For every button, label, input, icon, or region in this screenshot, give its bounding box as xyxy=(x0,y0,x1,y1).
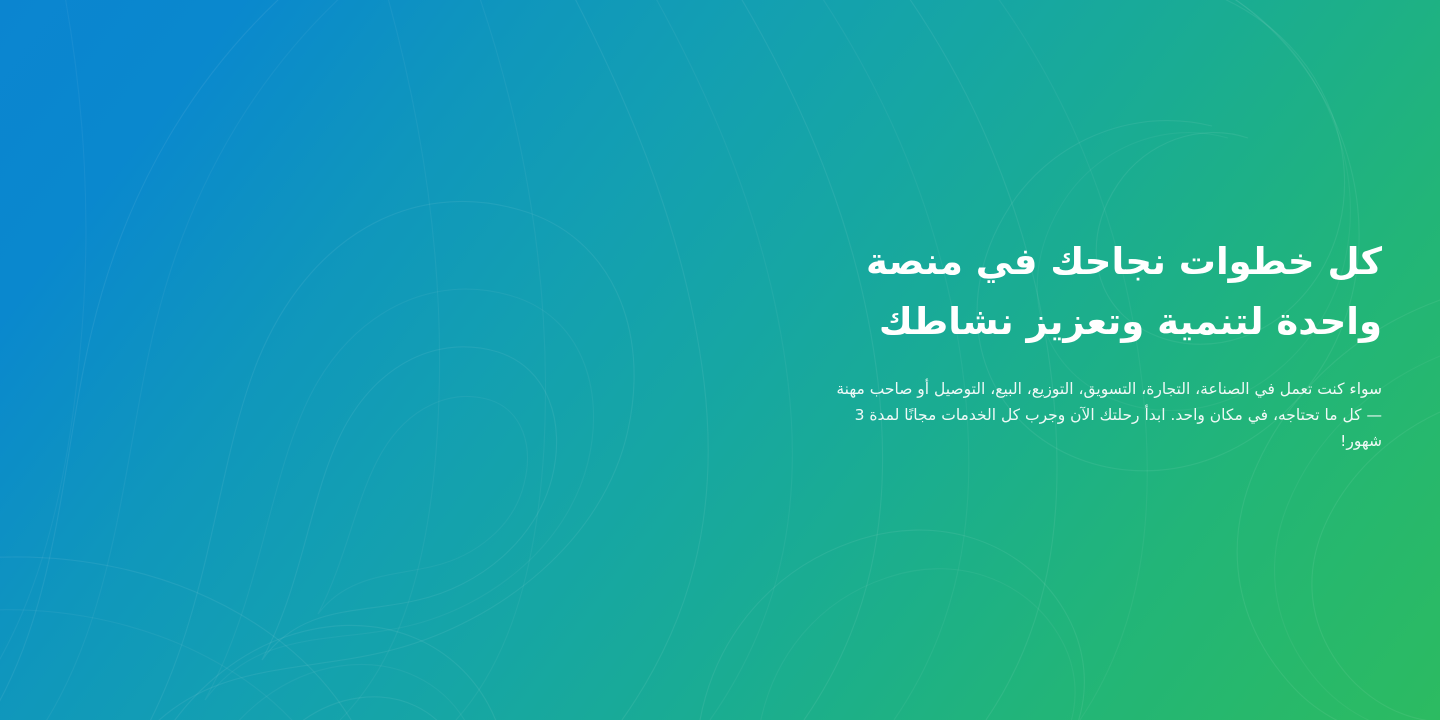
hero-subtext: سواء كنت تعمل في الصناعة، التجارة، التسو… xyxy=(833,376,1382,454)
headline-line-2: واحدة لتنمية وتعزيز نشاطك xyxy=(833,292,1382,352)
hero-headline: كل خطوات نجاحك في منصة واحدة لتنمية وتعز… xyxy=(833,232,1382,352)
hero-text-block: كل خطوات نجاحك في منصة واحدة لتنمية وتعز… xyxy=(833,232,1382,454)
hero-banner: كل خطوات نجاحك في منصة واحدة لتنمية وتعز… xyxy=(0,0,1440,720)
headline-line-1: كل خطوات نجاحك في منصة xyxy=(833,232,1382,292)
